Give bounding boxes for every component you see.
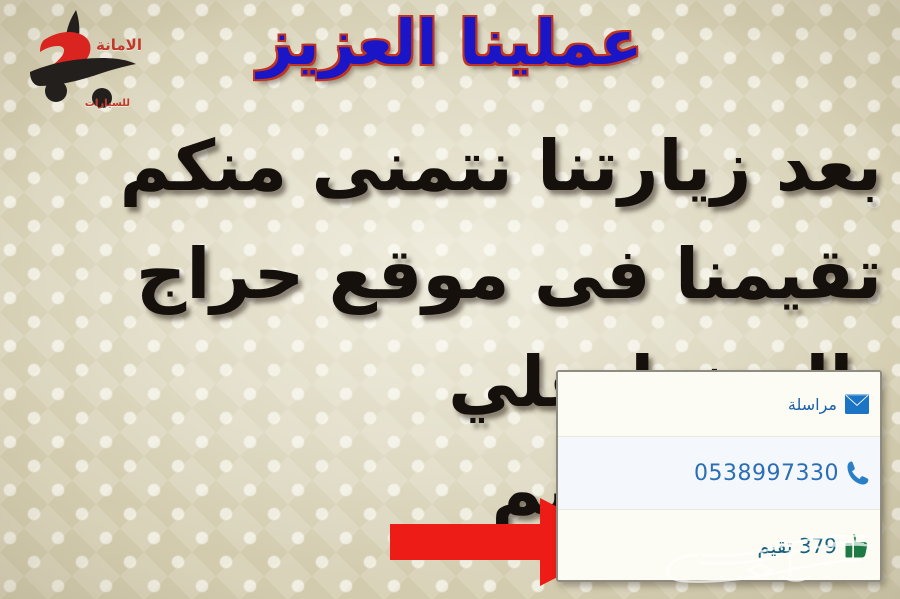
envelope-icon: [844, 393, 870, 415]
body-line-2: تقيمنا فى موقع حراج: [10, 220, 882, 328]
logo-subtitle: للسيارات: [85, 98, 130, 109]
card-row-message[interactable]: مراسلة: [558, 372, 880, 436]
card-row-phone-number: 0538997330: [694, 461, 839, 486]
card-row-rating[interactable]: 379 تقيم: [558, 510, 880, 582]
page-title: عملينا العزيز: [0, 12, 900, 74]
thumbs-up-icon: [844, 533, 870, 559]
card-row-phone[interactable]: 0538997330: [558, 436, 880, 510]
body-line-1: بعد زيارتنا نتمنى منكم: [10, 112, 882, 220]
phone-icon: [846, 460, 870, 486]
card-row-rating-label: 379 تقيم: [757, 534, 837, 558]
card-row-message-label: مراسلة: [788, 395, 837, 414]
listing-contact-card: ‹ مراسلة 0538997330: [556, 370, 882, 582]
poster-canvas: الامانة للسيارات عملينا العزيز بعد زيارت…: [0, 0, 900, 599]
